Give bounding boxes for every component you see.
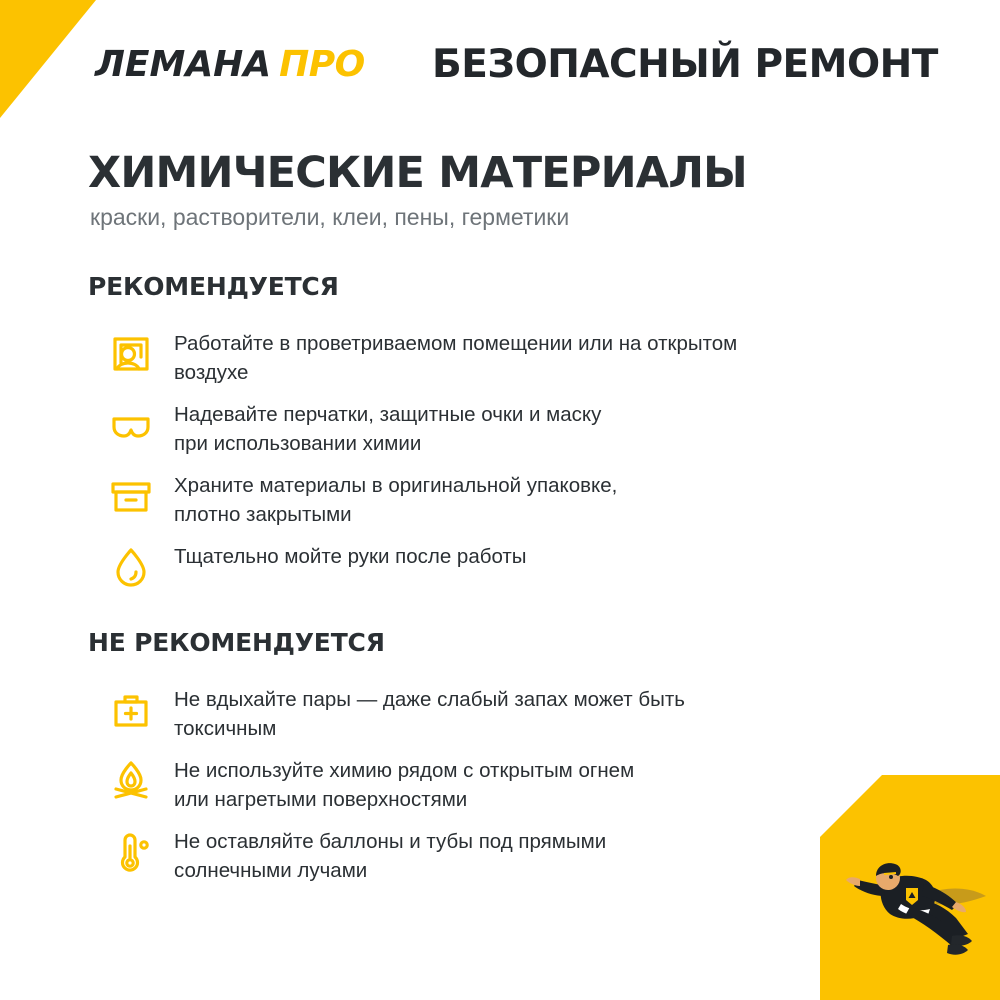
list-item-text: Не вдыхайте пары — даже слабый запах мож… [174, 681, 918, 743]
list-item: Тщательно мойте руки после работы [88, 538, 918, 596]
first-aid-kit-icon [88, 681, 174, 737]
list-item-text: Не оставляйте баллоны и тубы под прямыми… [174, 823, 918, 885]
storage-box-icon [88, 467, 174, 523]
safety-goggles-icon [88, 396, 174, 452]
page-title: ХИМИЧЕСКИЕ МАТЕРИАЛЫ [88, 148, 747, 198]
campfire-flame-icon [88, 752, 174, 808]
list-item-text: Работайте в проветриваемом помещении или… [174, 325, 918, 387]
open-window-ventilation-icon [88, 325, 174, 381]
section-heading-recommended: РЕКОМЕНДУЕТСЯ [88, 272, 918, 301]
water-drop-icon [88, 538, 174, 594]
section-recommended: РЕКОМЕНДУЕТСЯ Работайте в проветриваемом… [88, 272, 918, 605]
list-item-text: Тщательно мойте руки после работы [174, 538, 918, 571]
list-item-text: Храните материалы в оригинальной упаковк… [174, 467, 918, 529]
brand-logo-suffix: ПРО [279, 44, 365, 85]
header-title: БЕЗОПАСНЫЙ РЕМОНТ [432, 42, 938, 87]
page-subtitle: краски, растворители, клеи, пены, гермет… [90, 204, 569, 231]
section-not-recommended: НЕ РЕКОМЕНДУЕТСЯ Не вдыхайте пары — даже… [88, 628, 918, 894]
list-item: Надевайте перчатки, защитные очки и маск… [88, 396, 918, 458]
brand-logo-main: ЛЕМАНА [95, 44, 271, 85]
list-item: Работайте в проветриваемом помещении или… [88, 325, 918, 387]
thermometer-sun-icon [88, 823, 174, 879]
list-item-text: Не используйте химию рядом с открытым ог… [174, 752, 918, 814]
brand-logo: ЛЕМАНАПРО [95, 44, 365, 85]
list-item: Храните материалы в оригинальной упаковк… [88, 467, 918, 529]
list-item: Не используйте химию рядом с открытым ог… [88, 752, 918, 814]
page-header: ЛЕМАНАПРО БЕЗОПАСНЫЙ РЕМОНТ [0, 0, 1000, 118]
list-item-text: Надевайте перчатки, защитные очки и маск… [174, 396, 918, 458]
list-item: Не оставляйте баллоны и тубы под прямыми… [88, 823, 918, 885]
section-heading-not-recommended: НЕ РЕКОМЕНДУЕТСЯ [88, 628, 918, 657]
list-item: Не вдыхайте пары — даже слабый запах мож… [88, 681, 918, 743]
